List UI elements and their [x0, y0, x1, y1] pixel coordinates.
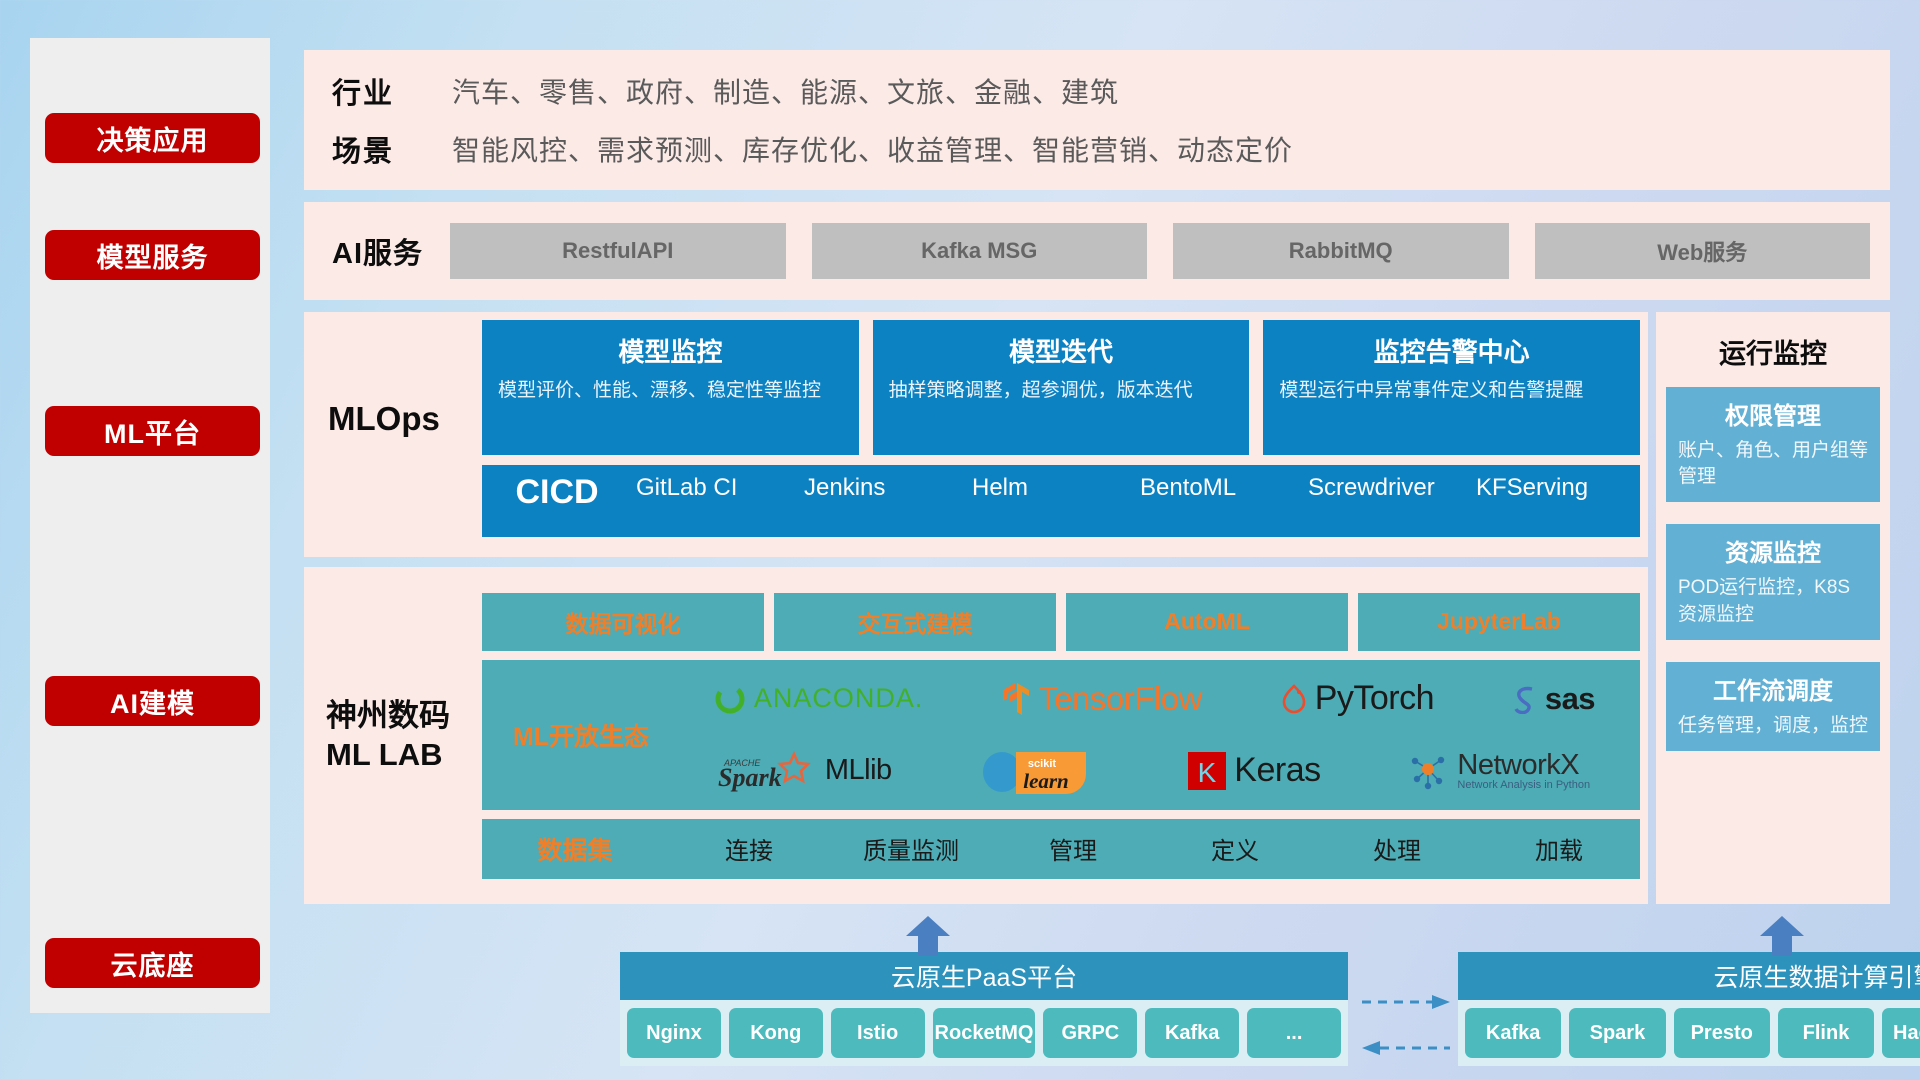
ml-lab-label-line2: ML LAB — [326, 736, 482, 775]
svg-text:learn: learn — [1023, 769, 1069, 793]
cloud-compute-title: 云原生数据计算引擎 — [1458, 952, 1920, 1000]
layer-rail: 决策应用 模型服务 ML平台 AI建模 云底座 — [30, 38, 270, 1013]
cicd-title: CICD — [482, 475, 632, 511]
ai-chip-web-service[interactable]: Web服务 — [1535, 223, 1871, 279]
bidirectional-link-arrows — [1360, 990, 1452, 1060]
ai-chip-restfulapi[interactable]: RestfulAPI — [450, 223, 786, 279]
industry-values: 汽车、零售、政府、制造、能源、文旅、金融、建筑 — [452, 71, 1119, 111]
cloud-chip-more-left[interactable]: ... — [1247, 1008, 1341, 1058]
dataset-item-define[interactable]: 定义 — [1154, 831, 1316, 866]
cicd-item-kfserving[interactable]: KFServing — [1472, 475, 1640, 501]
pytorch-wordmark: PyTorch — [1315, 679, 1434, 718]
dataset-bar: 数据集 连接 质量监测 管理 定义 处理 加载 — [482, 819, 1640, 879]
anaconda-logo: ANACONDA. — [713, 682, 924, 716]
cloud-paas-title: 云原生PaaS平台 — [620, 952, 1348, 1000]
lab-tool-interactive-modeling[interactable]: 交互式建模 — [774, 593, 1056, 651]
monitoring-panel: 运行监控 权限管理 账户、角色、用户组等管理 资源监控 POD运行监控，K8S资… — [1656, 312, 1890, 904]
tensorflow-logo: TensorFlow — [1001, 680, 1202, 718]
ml-lab-label-line1: 神州数码 — [326, 697, 482, 736]
cloud-chip-istio[interactable]: Istio — [831, 1008, 925, 1058]
tensorflow-wordmark: TensorFlow — [1038, 680, 1202, 718]
card-title: 模型监控 — [498, 332, 843, 369]
cicd-item-screwdriver[interactable]: Screwdriver — [1304, 475, 1472, 501]
cloud-chip-kafka[interactable]: Kafka — [1145, 1008, 1239, 1058]
networkx-icon — [1408, 751, 1450, 791]
card-desc: 任务管理，调度，监控 — [1678, 713, 1868, 739]
rail-chip-ai-modeling[interactable]: AI建模 — [45, 676, 260, 726]
rail-chip-model-service[interactable]: 模型服务 — [45, 230, 260, 280]
monitoring-card-resource[interactable]: 资源监控 POD运行监控，K8S资源监控 — [1666, 524, 1880, 639]
keras-icon: K — [1187, 751, 1227, 791]
cloud-paas-chip-list: Nginx Kong Istio RocketMQ GRPC Kafka ... — [620, 1000, 1348, 1066]
card-title: 监控告警中心 — [1279, 332, 1624, 369]
networkx-tagline: Network Analysis in Python — [1457, 780, 1590, 791]
networkx-wordmark: NetworkX — [1457, 751, 1590, 780]
cicd-bar: CICD GitLab CI Jenkins Helm BentoML Scre… — [482, 465, 1640, 537]
ml-ecosystem-panel: ML开放生态 ANACONDA. — [482, 660, 1640, 810]
cloud-chip-kong[interactable]: Kong — [729, 1008, 823, 1058]
monitoring-card-workflow[interactable]: 工作流调度 任务管理，调度，监控 — [1666, 662, 1880, 751]
mlops-card-model-monitoring[interactable]: 模型监控 模型评价、性能、漂移、稳定性等监控 — [482, 320, 859, 455]
platform-block: MLOps 模型监控 模型评价、性能、漂移、稳定性等监控 模型迭代 抽样策略调整… — [304, 312, 1890, 904]
cloud-chip-kafka-right[interactable]: Kafka — [1465, 1008, 1561, 1058]
cicd-item-helm[interactable]: Helm — [968, 475, 1136, 501]
ml-ecosystem-label: ML开放生态 — [488, 717, 674, 753]
cloud-base-block: 云原生PaaS平台 Nginx Kong Istio RocketMQ GRPC… — [608, 912, 1920, 1072]
cloud-chip-presto[interactable]: Presto — [1674, 1008, 1770, 1058]
lab-tool-jupyterlab[interactable]: JupyterLab — [1358, 593, 1640, 651]
diagram-canvas: 决策应用 模型服务 ML平台 AI建模 云底座 行业 汽车、零售、政府、制造、能… — [0, 0, 1920, 1080]
card-title: 工作流调度 — [1678, 671, 1868, 706]
scenario-values: 智能风控、需求预测、库存优化、收益管理、智能营销、动态定价 — [452, 129, 1293, 169]
ai-service-band: AI服务 RestfulAPI Kafka MSG RabbitMQ Web服务 — [304, 202, 1890, 300]
card-desc: 抽样策略调整，超参调优，版本迭代 — [889, 378, 1234, 404]
cloud-chip-grpc[interactable]: GRPC — [1043, 1008, 1137, 1058]
ecosystem-logo-row-2: APACHE Spark MLlib — [674, 736, 1634, 806]
sas-logo: sas — [1512, 681, 1595, 717]
up-arrow-icon-paas — [904, 916, 952, 956]
mlops-band: MLOps 模型监控 模型评价、性能、漂移、稳定性等监控 模型迭代 抽样策略调整… — [304, 312, 1648, 557]
anaconda-icon — [713, 682, 747, 716]
svg-text:Spark: Spark — [718, 763, 782, 792]
keras-wordmark: Keras — [1234, 751, 1320, 790]
card-title: 资源监控 — [1678, 533, 1868, 568]
mlops-card-list: 模型监控 模型评价、性能、漂移、稳定性等监控 模型迭代 抽样策略调整，超参调优，… — [482, 320, 1640, 455]
tensorflow-icon — [1001, 681, 1031, 717]
cloud-chip-rocketmq[interactable]: RocketMQ — [933, 1008, 1036, 1058]
spark-icon: APACHE Spark — [718, 750, 818, 792]
lab-tool-automl[interactable]: AutoML — [1066, 593, 1348, 651]
cloud-chip-nginx[interactable]: Nginx — [627, 1008, 721, 1058]
pytorch-icon — [1280, 683, 1308, 715]
svg-text:K: K — [1198, 757, 1217, 788]
spark-mllib-logo: APACHE Spark MLlib — [718, 750, 892, 792]
cicd-item-jenkins[interactable]: Jenkins — [800, 475, 968, 501]
dataset-item-connect[interactable]: 连接 — [668, 831, 830, 866]
cloud-chip-hadoop[interactable]: Hadoop — [1882, 1008, 1920, 1058]
rail-chip-ml-platform[interactable]: ML平台 — [45, 406, 260, 456]
up-arrow-icon-compute — [1758, 916, 1806, 956]
cloud-compute-group: 云原生数据计算引擎 Kafka Spark Presto Flink Hadoo… — [1458, 952, 1920, 1066]
industry-key: 行业 — [332, 70, 452, 112]
sas-wordmark: sas — [1545, 681, 1595, 717]
card-title: 模型迭代 — [889, 332, 1234, 369]
cloud-chip-spark[interactable]: Spark — [1569, 1008, 1665, 1058]
ecosystem-logo-row-1: ANACONDA. Te — [674, 664, 1634, 734]
cicd-item-bentoml[interactable]: BentoML — [1136, 475, 1304, 501]
mlops-label: MLOps — [304, 312, 482, 438]
keras-logo: K Keras — [1187, 751, 1320, 791]
card-desc: 模型评价、性能、漂移、稳定性等监控 — [498, 378, 843, 404]
ai-service-label: AI服务 — [332, 230, 450, 272]
mlops-card-model-iteration[interactable]: 模型迭代 抽样策略调整，超参调优，版本迭代 — [873, 320, 1250, 455]
mlops-card-alert-center[interactable]: 监控告警中心 模型运行中异常事件定义和告警提醒 — [1263, 320, 1640, 455]
industry-row: 行业 汽车、零售、政府、制造、能源、文旅、金融、建筑 — [332, 70, 1890, 112]
anaconda-wordmark: ANACONDA. — [754, 683, 924, 714]
sas-icon — [1512, 684, 1538, 714]
cloud-chip-flink[interactable]: Flink — [1778, 1008, 1874, 1058]
dataset-item-load[interactable]: 加载 — [1478, 831, 1640, 866]
pytorch-logo: PyTorch — [1280, 679, 1434, 718]
lab-tool-data-visualization[interactable]: 数据可视化 — [482, 593, 764, 651]
platform-left-column: MLOps 模型监控 模型评价、性能、漂移、稳定性等监控 模型迭代 抽样策略调整… — [304, 312, 1648, 904]
ai-service-chip-list: RestfulAPI Kafka MSG RabbitMQ Web服务 — [450, 223, 1870, 279]
dataset-item-manage[interactable]: 管理 — [992, 831, 1154, 866]
card-desc: 模型运行中异常事件定义和告警提醒 — [1279, 378, 1624, 404]
rail-chip-decision[interactable]: 决策应用 — [45, 113, 260, 163]
scikit-learn-icon: scikit learn — [980, 748, 1100, 794]
card-title: 权限管理 — [1678, 396, 1868, 431]
card-desc: POD运行监控，K8S资源监控 — [1678, 575, 1868, 627]
dataset-label: 数据集 — [482, 831, 668, 867]
ml-lab-label: 神州数码 ML LAB — [304, 697, 482, 775]
ai-chip-rabbitmq[interactable]: RabbitMQ — [1173, 223, 1509, 279]
cloud-compute-chip-list: Kafka Spark Presto Flink Hadoop Storm ..… — [1458, 1000, 1920, 1066]
cloud-paas-group: 云原生PaaS平台 Nginx Kong Istio RocketMQ GRPC… — [620, 952, 1348, 1066]
ai-chip-kafka-msg[interactable]: Kafka MSG — [812, 223, 1148, 279]
scenario-row: 场景 智能风控、需求预测、库存优化、收益管理、智能营销、动态定价 — [332, 128, 1890, 170]
scenario-key: 场景 — [332, 128, 452, 170]
dataset-item-process[interactable]: 处理 — [1316, 831, 1478, 866]
scikit-learn-logo: scikit learn — [980, 748, 1100, 794]
dataset-item-quality-monitor[interactable]: 质量监测 — [830, 831, 992, 866]
ml-lab-tool-list: 数据可视化 交互式建模 AutoML JupyterLab — [482, 593, 1640, 651]
card-desc: 账户、角色、用户组等管理 — [1678, 438, 1868, 490]
monitoring-card-permission[interactable]: 权限管理 账户、角色、用户组等管理 — [1666, 387, 1880, 502]
cicd-item-gitlab-ci[interactable]: GitLab CI — [632, 475, 800, 501]
rail-chip-cloud-base[interactable]: 云底座 — [45, 938, 260, 988]
ml-lab-band: 神州数码 ML LAB 数据可视化 交互式建模 AutoML JupyterLa… — [304, 567, 1648, 904]
industry-band: 行业 汽车、零售、政府、制造、能源、文旅、金融、建筑 场景 智能风控、需求预测、… — [304, 50, 1890, 190]
mllib-wordmark: MLlib — [825, 754, 892, 787]
monitoring-title: 运行监控 — [1666, 332, 1880, 371]
networkx-logo: NetworkX Network Analysis in Python — [1408, 751, 1590, 791]
